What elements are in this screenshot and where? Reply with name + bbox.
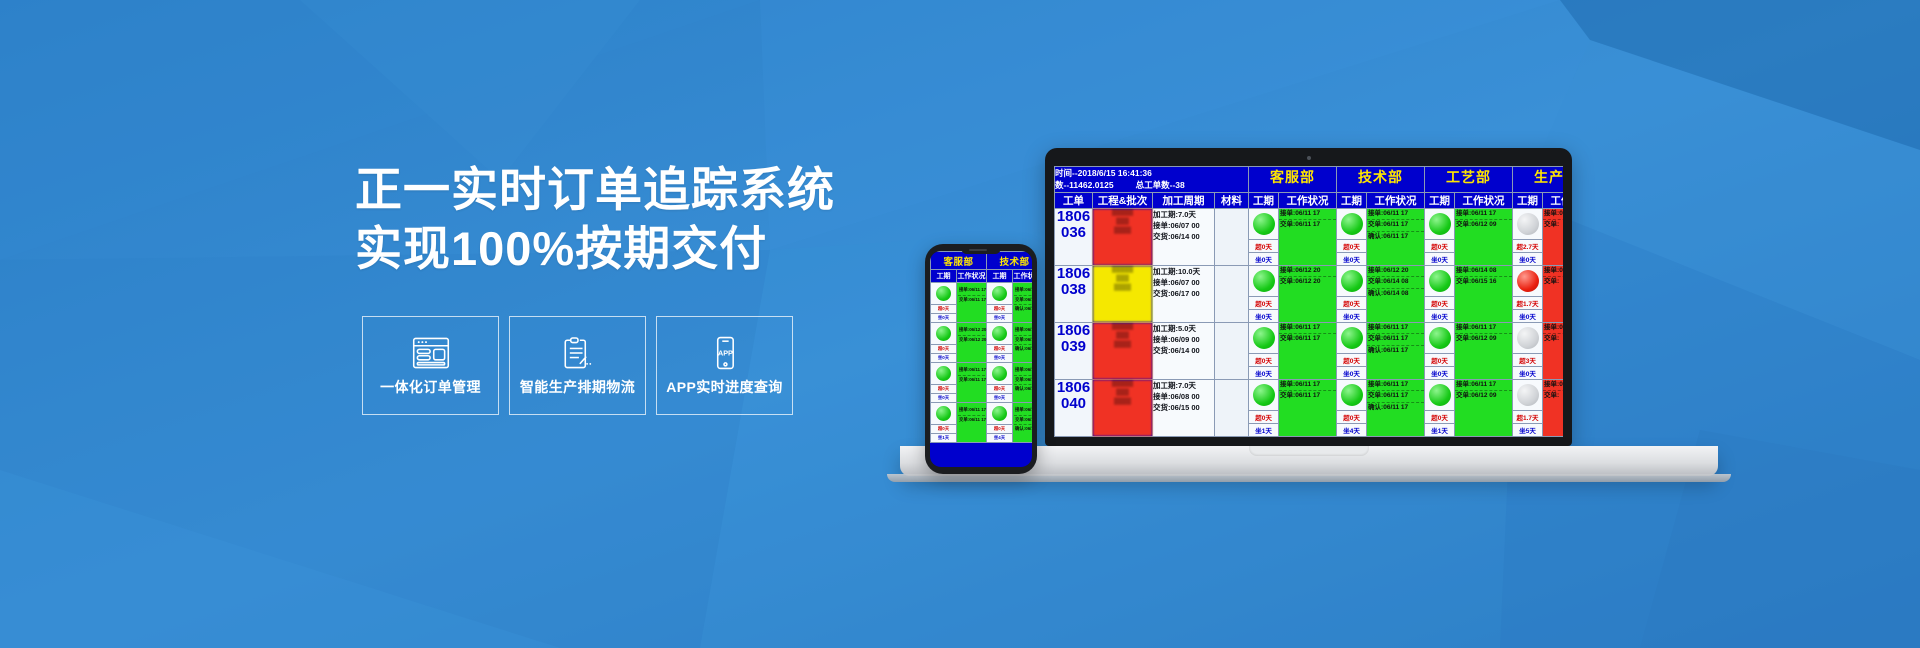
promo-banner: 正一实时订单追踪系统 实现100%按期交付 一体化订单管理 [0,0,1920,648]
dept-status-cell[interactable]: 超0天坐0天 [1425,322,1455,379]
project-batch-cell[interactable]: ████████████ [1093,322,1153,379]
info-line: 接单:06/11 17 [1014,406,1032,416]
info-line: 交单:06/11 17 [1367,334,1424,346]
status-indicator [1337,323,1366,353]
dept-info-cell[interactable]: 接单:06/12 09交单: [1543,379,1563,436]
info-line: 接单:06/11 17 [1279,323,1336,335]
dept-info-cell[interactable]: 接单:06/11 17交单:06/11 17 [957,363,987,403]
idle-tag: 坐0天 [1249,366,1278,379]
overdue-tag: 超0天 [987,344,1012,353]
idle-tag: 坐0天 [1337,252,1366,265]
dept-status-cell[interactable]: 超0天坐1天 [931,403,957,443]
dept-info-cell[interactable]: 接单:06/14 08交单:06/15 16 [1455,265,1513,322]
dept-status-cell[interactable]: 超0天坐0天 [1337,322,1367,379]
cycle-line: 交货:06/14 00 [1153,345,1214,356]
col-dept: 工作状况 [1367,192,1425,208]
status-dot-green [936,366,951,381]
dept-status-cell[interactable]: 超0天坐0天 [1249,322,1279,379]
status-dot-green [992,286,1007,301]
info-line: 接单:06/12 09 [1543,323,1563,335]
feature-label: 智能生产排期物流 [520,377,635,397]
overdue-tag: 超0天 [931,384,956,393]
status-dot-green [1341,270,1363,292]
info-line: 确认:06/11 17 [1014,385,1032,394]
phone-table-row[interactable]: 超0天坐0天接单:06/11 17交单:06/11 17超0天坐0天接单:06/… [931,363,1033,403]
overdue-tag: 超0天 [1425,296,1454,309]
idle-tag: 坐0天 [1513,309,1542,322]
overdue-tag: 超1.7天 [1513,296,1542,309]
status-indicator [1513,266,1542,296]
status-indicator [931,403,956,424]
idle-tag: 坐4天 [1337,423,1366,436]
status-indicator [987,363,1012,384]
status-dot-green [936,326,951,341]
dept-status-cell[interactable]: 超0天坐0天 [1249,208,1279,265]
dept-status-cell[interactable]: 超0天坐0天 [987,283,1013,323]
work-order-cell[interactable]: 1806036 [1055,208,1093,265]
table-row[interactable]: 1806036████████████加工期:7.0天接单:06/07 00交货… [1055,208,1564,265]
phone-column-row: 工期工作状况工期工作状况 [931,270,1033,283]
info-line: 交单: [1543,334,1563,345]
info-line: 交单:06/12 09 [1455,220,1512,231]
cycle-cell: 加工期:5.0天接单:06/09 00交货:06/14 00 [1153,322,1215,379]
dept-info-cell[interactable]: 接单:06/11 17交单:06/11 17 [957,283,987,323]
table-header-row: 时间--2018/6/15 16:41:36数--11462.0125总工单数-… [1055,167,1564,193]
status-indicator [1337,209,1366,239]
dept-info-cell[interactable]: 接单:06/11 17交单:06/11 17确认:06/11 17 [1367,379,1425,436]
status-dot-green [1253,213,1275,235]
overdue-tag: 超0天 [1249,353,1278,366]
info-line: 确认:06/11 17 [1014,305,1032,314]
clipboard-schedule-icon [558,335,598,371]
phone-order-table: 客服部技术部工期工作状况工期工作状况超0天坐0天接单:06/11 17交单:06… [930,251,1032,443]
status-dot-green [1253,270,1275,292]
status-dot-green [1429,213,1451,235]
info-line: 确认:06/11 17 [1367,346,1424,357]
cycle-line: 加工期:10.0天 [1153,266,1214,277]
status-indicator [1513,323,1542,353]
dept-status-cell[interactable]: 超0天坐0天 [931,363,957,403]
status-indicator [1249,323,1278,353]
idle-tag: 坐0天 [1249,252,1278,265]
phone-dept-header-1: 客服部 [931,252,987,270]
cycle-line: 交货:06/17 00 [1153,288,1214,299]
status-dot-gray [1517,384,1539,406]
overdue-tag: 超0天 [1249,296,1278,309]
dept-info-cell[interactable]: 接单:06/15 16交单: [1543,265,1563,322]
cycle-line: 接单:06/07 00 [1153,277,1214,288]
overdue-tag: 超0天 [931,344,956,353]
info-line: 接单:06/12 20 [1367,266,1424,278]
status-dot-green [1429,270,1451,292]
info-line: 交单:06/14 08 [1014,336,1032,346]
table-column-row: 工单工程&批次加工周期材料工期工作状况工期工作状况工期工作状况工期工作状况工期工… [1055,192,1564,208]
cycle-line: 交货:06/14 00 [1153,231,1214,242]
idle-tag: 坐0天 [931,393,956,402]
laptop-screen: 时间--2018/6/15 16:41:36数--11462.0125总工单数-… [1054,166,1563,437]
dept-status-cell[interactable]: 超0天坐0天 [1337,208,1367,265]
cycle-line: 加工期:7.0天 [1153,209,1214,220]
phone-col: 工作状况 [957,270,987,283]
col-3: 加工周期 [1153,192,1215,208]
feature-label: APP实时进度查询 [666,377,782,397]
dept-header-3: 工艺部 [1425,167,1513,193]
table-meta: 时间--2018/6/15 16:41:36数--11462.0125总工单数-… [1055,167,1249,193]
meta-time: 时间--2018/6/15 16:41:36 [1055,167,1248,179]
info-line: 交单:06/12 09 [1455,391,1512,402]
info-line: 交单:06/12 20 [958,336,985,345]
status-dot-red [1517,270,1539,292]
dept-status-cell[interactable]: 超2.7天坐0天 [1513,208,1543,265]
col-dept: 工期 [1425,192,1455,208]
status-dot-green [1253,327,1275,349]
cycle-line: 加工期:5.0天 [1153,323,1214,334]
feature-label: 一体化订单管理 [380,377,481,397]
dept-info-cell[interactable]: 接单:06/11 17交单:06/11 17 [1279,322,1337,379]
info-line: 接单:06/12 20 [958,326,985,336]
dept-status-cell[interactable]: 超0天坐4天 [987,403,1013,443]
info-line: 确认:06/14 08 [1367,289,1424,300]
overdue-tag: 超0天 [1425,410,1454,423]
info-line: 接单:06/11 17 [958,286,985,296]
info-line: 交单:06/11 17 [1279,334,1336,345]
col-4: 材料 [1215,192,1249,208]
phone-notch [961,247,1001,254]
dept-info-cell[interactable]: 接单:06/11 17交单:06/11 17确认:06/11 17 [1367,208,1425,265]
order-tracking-table: 时间--2018/6/15 16:41:36数--11462.0125总工单数-… [1054,166,1563,437]
status-dot-green [1341,327,1363,349]
info-line: 接单:06/12 09 [1543,209,1563,221]
dept-info-cell[interactable]: 接单:06/12 20交单:06/14 08确认:06/14 08 [1013,323,1032,363]
dept-info-cell[interactable]: 接单:06/11 17交单:06/11 17确认:06/11 17 [1013,363,1032,403]
idle-tag: 坐1天 [1425,423,1454,436]
info-line: 交单: [1543,277,1563,288]
cycle-cell: 加工期:10.0天接单:06/07 00交货:06/17 00 [1153,265,1215,322]
info-line: 接单:06/11 17 [1455,323,1512,335]
material-cell[interactable] [1215,265,1249,322]
info-line: 交单: [1543,220,1563,231]
idle-tag: 坐0天 [987,313,1012,322]
idle-tag: 坐5天 [1513,423,1542,436]
info-line: 交单:06/12 09 [1455,334,1512,345]
work-order-cell[interactable]: 1806038 [1055,265,1093,322]
col-2: 工程&批次 [1093,192,1153,208]
info-line: 交单:06/12 20 [1279,277,1336,288]
dept-status-cell[interactable]: 超0天坐0天 [1249,265,1279,322]
idle-tag: 坐0天 [987,393,1012,402]
status-indicator [987,283,1012,304]
status-indicator [931,323,956,344]
phone-dept-header-2: 技术部 [987,252,1032,270]
info-line: 交单:06/11 17 [1279,220,1336,231]
overdue-tag: 超0天 [1337,296,1366,309]
dept-status-cell[interactable]: 超0天坐0天 [1425,265,1455,322]
overdue-tag: 超3天 [1513,353,1542,366]
project-batch-cell[interactable]: ████████████ [1093,265,1153,322]
status-dot-gray [1517,213,1539,235]
dept-header-1: 客服部 [1249,167,1337,193]
dept-status-cell[interactable]: 超3天坐0天 [1513,322,1543,379]
info-line: 接单:06/11 17 [1367,209,1424,221]
overdue-tag: 超0天 [1249,410,1278,423]
project-batch-cell[interactable]: ████████████ [1093,379,1153,436]
info-line: 确认:06/14 08 [1014,345,1032,354]
col-dept: 工期 [1513,192,1543,208]
info-line: 接单:06/11 17 [1279,209,1336,221]
info-line: 接单:06/12 09 [1543,380,1563,392]
dept-status-cell[interactable]: 超0天坐0天 [931,323,957,363]
cycle-line: 接单:06/07 00 [1153,220,1214,231]
overdue-tag: 超0天 [987,304,1012,313]
overdue-tag: 超0天 [987,424,1012,433]
material-cell[interactable] [1215,322,1249,379]
meta-code: 数--11462.0125 [1055,179,1114,191]
idle-tag: 坐0天 [1425,252,1454,265]
headline-line-1: 正一实时订单追踪系统 [355,160,915,219]
mobile-app-icon: APP [705,335,745,371]
dept-header-4: 生产部 [1513,167,1563,193]
dept-info-cell[interactable]: 接单:06/12 09交单: [1543,208,1563,265]
overdue-tag: 超2.7天 [1513,239,1542,252]
info-line: 交单:06/11 17 [958,296,985,305]
status-indicator [987,403,1012,424]
phone-table-row[interactable]: 超0天坐1天接单:06/11 17交单:06/11 17超0天坐4天接单:06/… [931,403,1033,443]
dept-status-cell[interactable]: 超0天坐4天 [1337,379,1367,436]
info-line: 交单:06/11 17 [1367,220,1424,232]
dept-info-cell[interactable]: 接单:06/11 17交单:06/11 17确认:06/11 17 [1013,283,1032,323]
col-dept: 工期 [1249,192,1279,208]
idle-tag: 坐0天 [1513,252,1542,265]
info-line: 交单:06/14 08 [1367,277,1424,289]
idle-tag: 坐0天 [931,353,956,362]
phone-screen: 客服部技术部工期工作状况工期工作状况超0天坐0天接单:06/11 17交单:06… [930,251,1032,467]
col-dept: 工期 [1337,192,1367,208]
idle-tag: 坐1天 [931,433,956,442]
svg-text:APP: APP [717,348,732,357]
laptop-mockup: 时间--2018/6/15 16:41:36数--11462.0125总工单数-… [1045,148,1572,446]
material-cell[interactable] [1215,379,1249,436]
status-indicator [987,323,1012,344]
col-dept: 工作状况 [1455,192,1513,208]
dept-info-cell[interactable]: 接单:06/11 17交单:06/11 17 [1279,379,1337,436]
status-dot-green [1429,327,1451,349]
status-dot-gray [1517,327,1539,349]
info-line: 接单:06/11 17 [1014,366,1032,376]
headline-line-2: 实现100%按期交付 [355,219,915,278]
overdue-tag: 超0天 [1337,239,1366,252]
status-dot-green [1429,384,1451,406]
overdue-tag: 超0天 [1425,353,1454,366]
dept-info-cell[interactable]: 接单:06/12 20交单:06/14 08确认:06/14 08 [1367,265,1425,322]
info-line: 接单:06/15 16 [1543,266,1563,278]
info-line: 接单:06/11 17 [958,366,985,376]
material-cell[interactable] [1215,208,1249,265]
status-dot-green [992,326,1007,341]
order-management-icon [411,335,451,371]
info-line: 接单:06/11 17 [1455,209,1512,221]
info-line: 接单:06/11 17 [1367,323,1424,335]
table-row[interactable]: 1806039████████████加工期:5.0天接单:06/09 00交货… [1055,322,1564,379]
table-row[interactable]: 1806040████████████加工期:7.0天接单:06/08 00交货… [1055,379,1564,436]
status-indicator [1337,380,1366,410]
overdue-tag: 超0天 [1249,239,1278,252]
status-indicator [931,283,956,304]
work-order-cell[interactable]: 1806039 [1055,322,1093,379]
idle-tag: 坐0天 [1249,309,1278,322]
idle-tag: 坐0天 [1337,309,1366,322]
info-line: 接单:06/11 17 [958,406,985,416]
status-indicator [1513,380,1542,410]
cycle-cell: 加工期:7.0天接单:06/07 00交货:06/14 00 [1153,208,1215,265]
info-line: 接单:06/12 20 [1279,266,1336,278]
dept-info-cell[interactable]: 接单:06/11 17交单:06/11 17 [1279,208,1337,265]
info-line: 交单:06/11 17 [1367,391,1424,403]
idle-tag: 坐0天 [1425,366,1454,379]
status-dot-green [1341,213,1363,235]
idle-tag: 坐0天 [931,313,956,322]
idle-tag: 坐4天 [987,433,1012,442]
table-row[interactable]: 1806038████████████加工期:10.0天接单:06/07 00交… [1055,265,1564,322]
dept-status-cell[interactable]: 超0天坐0天 [1425,208,1455,265]
meta-total: 总工单数--38 [1136,179,1185,191]
col-1: 工单 [1055,192,1093,208]
col-dept: 工作状况 [1279,192,1337,208]
idle-tag: 坐0天 [987,353,1012,362]
dept-info-cell[interactable]: 接单:06/11 17交单:06/12 09 [1455,379,1513,436]
status-indicator [931,363,956,384]
phone-table-row[interactable]: 超0天坐0天接单:06/12 20交单:06/12 20超0天坐0天接单:06/… [931,323,1033,363]
info-line: 确认:06/11 17 [1367,232,1424,243]
laptop-foot [887,474,1731,482]
status-dot-green [992,366,1007,381]
dept-status-cell[interactable]: 超0天坐0天 [1337,265,1367,322]
dept-info-cell[interactable]: 接单:06/11 17交单:06/12 09 [1455,322,1513,379]
info-line: 交单:06/11 17 [958,376,985,385]
status-indicator [1513,209,1542,239]
phone-col: 工期 [987,270,1013,283]
info-line: 接单:06/14 08 [1455,266,1512,278]
overdue-tag: 超1.7天 [1513,410,1542,423]
status-dot-green [936,286,951,301]
dept-status-cell[interactable]: 超0天坐0天 [931,283,957,323]
webcam-icon [1307,156,1311,160]
status-dot-green [936,406,951,421]
status-dot-green [992,406,1007,421]
dept-status-cell[interactable]: 超0天坐1天 [1425,379,1455,436]
status-indicator [1249,209,1278,239]
info-line: 确认:06/11 17 [1367,403,1424,414]
phone-col: 工期 [931,270,957,283]
dept-info-cell[interactable]: 接单:06/11 17交单:06/11 17 [957,403,987,443]
info-line: 交单:06/11 17 [1014,416,1032,426]
overdue-tag: 超0天 [931,424,956,433]
status-dot-green [1341,384,1363,406]
status-indicator [1249,380,1278,410]
cycle-line: 加工期:7.0天 [1153,380,1214,391]
dept-status-cell[interactable]: 超0天坐0天 [987,363,1013,403]
overdue-tag: 超0天 [1337,353,1366,366]
project-batch-cell[interactable]: ████████████ [1093,208,1153,265]
dept-status-cell[interactable]: 超0天坐0天 [987,323,1013,363]
idle-tag: 坐0天 [1425,309,1454,322]
col-dept: 工作状况 [1543,192,1563,208]
status-indicator [1337,266,1366,296]
idle-tag: 坐1天 [1249,423,1278,436]
cycle-cell: 加工期:7.0天接单:06/08 00交货:06/15 00 [1153,379,1215,436]
cycle-line: 接单:06/08 00 [1153,391,1214,402]
info-line: 确认:06/11 17 [1014,425,1032,434]
info-line: 接单:06/11 17 [1014,286,1032,296]
laptop-lid: 时间--2018/6/15 16:41:36数--11462.0125总工单数-… [1045,148,1572,446]
idle-tag: 坐0天 [1513,366,1542,379]
cycle-line: 接单:06/09 00 [1153,334,1214,345]
info-line: 接单:06/12 20 [1014,326,1032,336]
dept-info-cell[interactable]: 接单:06/11 17交单:06/12 09 [1455,208,1513,265]
dept-status-cell[interactable]: 超1.7天坐5天 [1513,379,1543,436]
cycle-line: 交货:06/15 00 [1153,402,1214,413]
info-line: 接单:06/11 17 [1367,380,1424,392]
overdue-tag: 超0天 [1337,410,1366,423]
feature-card-list: 一体化订单管理 智能生产排期物流 [362,316,793,415]
phone-header-row: 客服部技术部 [931,252,1033,270]
status-indicator [1425,266,1454,296]
overdue-tag: 超0天 [931,304,956,313]
feature-card-production-schedule[interactable]: 智能生产排期物流 [509,316,646,415]
info-line: 交单:06/11 17 [958,416,985,425]
status-indicator [1425,380,1454,410]
overdue-tag: 超0天 [1425,239,1454,252]
smartphone-mockup: 客服部技术部工期工作状况工期工作状况超0天坐0天接单:06/11 17交单:06… [925,244,1037,474]
dept-info-cell[interactable]: 接单:06/12 09交单: [1543,322,1563,379]
work-order-cell[interactable]: 1806040 [1055,379,1093,436]
status-dot-green [1253,384,1275,406]
dept-info-cell[interactable]: 接单:06/12 20交单:06/12 20 [957,323,987,363]
status-indicator [1425,323,1454,353]
info-line: 接单:06/11 17 [1455,380,1512,392]
feature-card-order-management[interactable]: 一体化订单管理 [362,316,499,415]
info-line: 交单: [1543,391,1563,402]
dept-status-cell[interactable]: 超1.7天坐0天 [1513,265,1543,322]
dept-info-cell[interactable]: 接单:06/12 20交单:06/12 20 [1279,265,1337,322]
dept-info-cell[interactable]: 接单:06/11 17交单:06/11 17确认:06/11 17 [1013,403,1032,443]
info-line: 交单:06/11 17 [1279,391,1336,402]
phone-col: 工作状况 [1013,270,1032,283]
dept-status-cell[interactable]: 超0天坐1天 [1249,379,1279,436]
headline-block: 正一实时订单追踪系统 实现100%按期交付 [355,160,915,278]
feature-card-app-progress[interactable]: APP APP实时进度查询 [656,316,793,415]
idle-tag: 坐0天 [1337,366,1366,379]
dept-header-2: 技术部 [1337,167,1425,193]
status-indicator [1425,209,1454,239]
info-line: 交单:06/11 17 [1014,296,1032,306]
status-indicator [1249,266,1278,296]
phone-table-row[interactable]: 超0天坐0天接单:06/11 17交单:06/11 17超0天坐0天接单:06/… [931,283,1033,323]
info-line: 接单:06/11 17 [1279,380,1336,392]
overdue-tag: 超0天 [987,384,1012,393]
dept-info-cell[interactable]: 接单:06/11 17交单:06/11 17确认:06/11 17 [1367,322,1425,379]
info-line: 交单:06/15 16 [1455,277,1512,288]
info-line: 交单:06/11 17 [1014,376,1032,386]
